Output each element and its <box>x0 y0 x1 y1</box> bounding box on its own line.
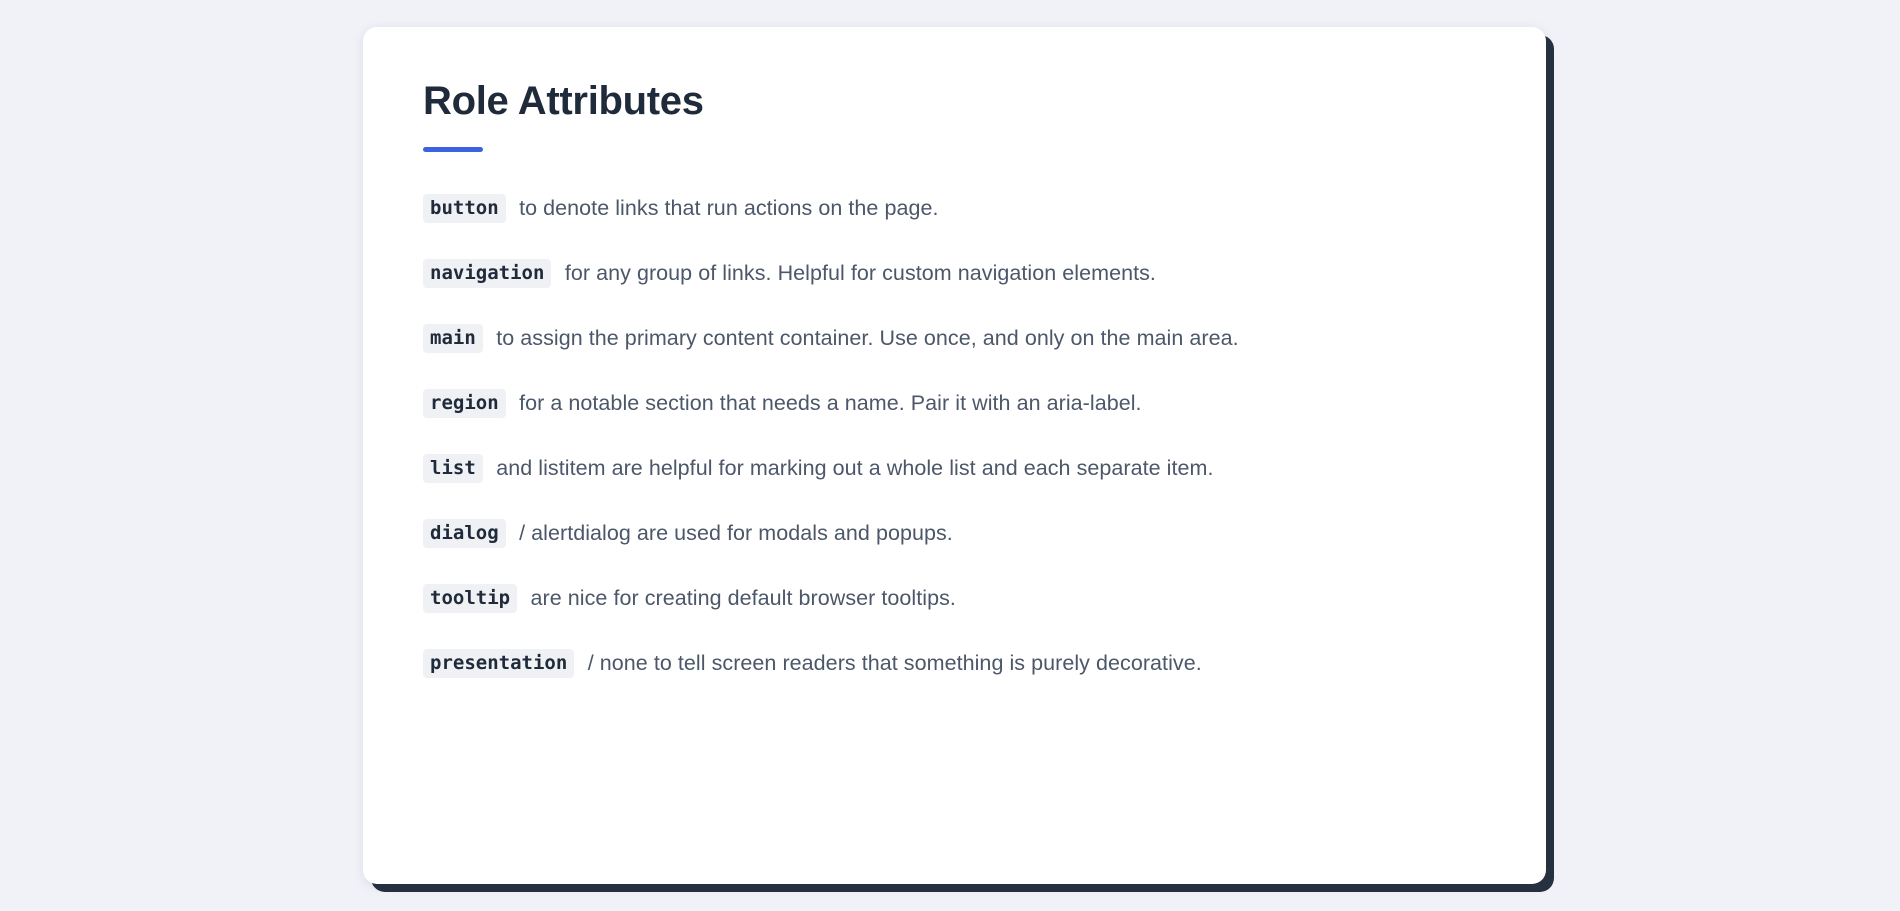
list-item: dialog / alertdialog are used for modals… <box>423 519 1486 548</box>
list-item: region for a notable section that needs … <box>423 389 1486 418</box>
list-item: main to assign the primary content conta… <box>423 324 1486 353</box>
card-content: Role Attributes button to denote links t… <box>363 27 1546 718</box>
role-code-chip: region <box>423 389 506 418</box>
role-code-chip: main <box>423 324 483 353</box>
role-attributes-card: Role Attributes button to denote links t… <box>363 27 1546 884</box>
title-accent-bar <box>423 147 483 152</box>
list-item: button to denote links that run actions … <box>423 194 1486 223</box>
list-item: list and listitem are helpful for markin… <box>423 454 1486 483</box>
role-code-chip: dialog <box>423 519 506 548</box>
role-code-chip: presentation <box>423 649 574 678</box>
role-description: for any group of links. Helpful for cust… <box>565 261 1156 285</box>
role-code-chip: list <box>423 454 483 483</box>
role-code-chip: button <box>423 194 506 223</box>
role-code-chip: tooltip <box>423 584 517 613</box>
role-description: / none to tell screen readers that somet… <box>588 651 1202 675</box>
page-title: Role Attributes <box>423 79 1486 123</box>
list-item: presentation / none to tell screen reade… <box>423 649 1486 678</box>
role-code-chip: navigation <box>423 259 551 288</box>
role-description: and listitem are helpful for marking out… <box>496 456 1213 480</box>
role-description: are nice for creating default browser to… <box>531 586 956 610</box>
role-description: to denote links that run actions on the … <box>519 196 938 220</box>
role-description: for a notable section that needs a name.… <box>519 391 1141 415</box>
page-root: Role Attributes button to denote links t… <box>0 0 1900 911</box>
list-item: tooltip are nice for creating default br… <box>423 584 1486 613</box>
role-description: / alertdialog are used for modals and po… <box>519 521 953 545</box>
list-item: navigation for any group of links. Helpf… <box>423 259 1486 288</box>
role-description: to assign the primary content container.… <box>496 326 1238 350</box>
role-attributes-list: button to denote links that run actions … <box>423 194 1486 678</box>
